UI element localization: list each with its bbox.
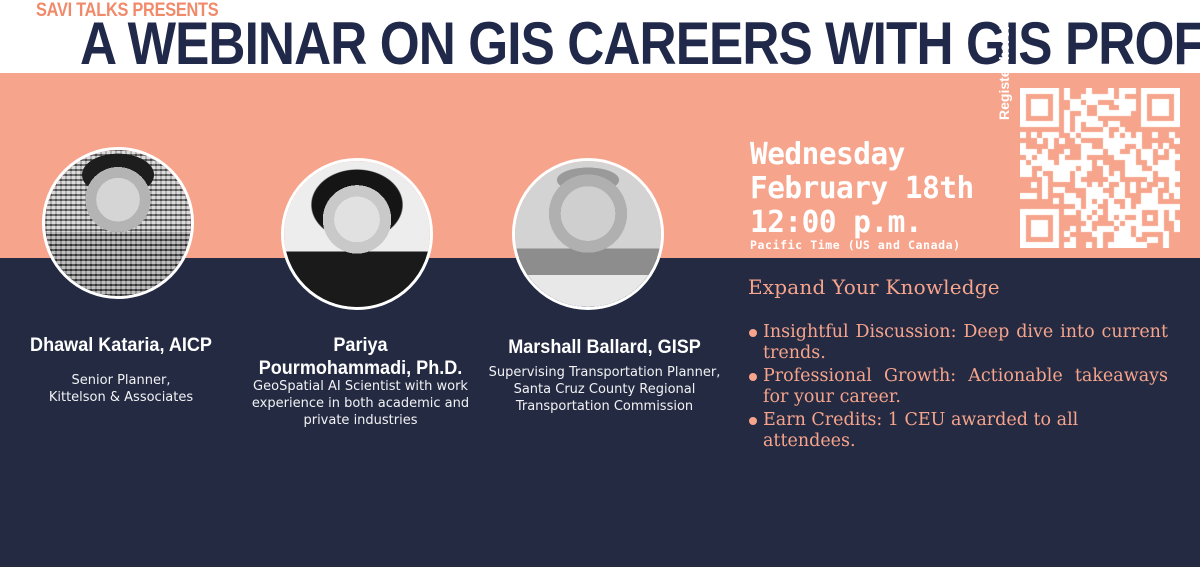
benefits-heading: Expand Your Knowledge	[748, 275, 1000, 299]
list-item: Insightful Discussion: Deep dive into cu…	[748, 322, 1168, 364]
list-item-label: Earn Credits: 1 CEU awarded to all atten…	[763, 410, 1078, 451]
bullet-dot-icon	[749, 417, 757, 425]
register-here-label: Register here!	[996, 26, 1012, 120]
speaker-photo-3	[512, 158, 664, 310]
portrait-photo	[515, 161, 661, 307]
list-item: Professional Growth: Actionable takeaway…	[748, 366, 1168, 408]
portrait-photo	[284, 161, 430, 307]
qr-code[interactable]	[1020, 88, 1180, 248]
speaker-photo-2	[281, 158, 433, 310]
bullet-dot-icon	[749, 373, 757, 381]
speaker-name-2: Pariya Pourmohammadi, Ph.D.	[249, 334, 472, 380]
speaker-role-3: Supervising Transportation Planner, Sant…	[476, 364, 733, 415]
list-item-label: Insightful Discussion: Deep dive into cu…	[763, 322, 1168, 363]
page-title: A WEBINAR ON GIS CAREERS WITH GIS PROFES…	[80, 14, 1200, 73]
list-item: Earn Credits: 1 CEU awarded to all atten…	[748, 410, 1168, 452]
benefits-list: Insightful Discussion: Deep dive into cu…	[748, 322, 1168, 454]
speaker-role-1: Senior Planner, Kittelson & Associates	[10, 372, 232, 406]
portrait-photo	[45, 150, 191, 296]
list-item-label: Professional Growth: Actionable takeaway…	[763, 366, 1168, 407]
event-timezone: Pacific Time (US and Canada)	[750, 238, 961, 252]
footer-logos: SJSU SCHOOL OF PLANNING, POLICY AND ENVI…	[0, 470, 1200, 567]
speaker-photo-1	[42, 147, 194, 299]
speaker-role-2: GeoSpatial AI Scientist with work experi…	[238, 378, 483, 429]
speaker-name-1: Dhawal Kataria, AICP	[6, 334, 236, 357]
webinar-poster: SAVI TALKS PRESENTS A WEBINAR ON GIS CAR…	[0, 0, 1200, 567]
event-datetime: Wednesday February 18th 12:00 p.m.	[750, 138, 974, 240]
qr-code-icon[interactable]	[1020, 88, 1180, 248]
bullet-dot-icon	[749, 329, 757, 337]
speaker-name-3: Marshall Ballard, GISP	[484, 336, 724, 359]
